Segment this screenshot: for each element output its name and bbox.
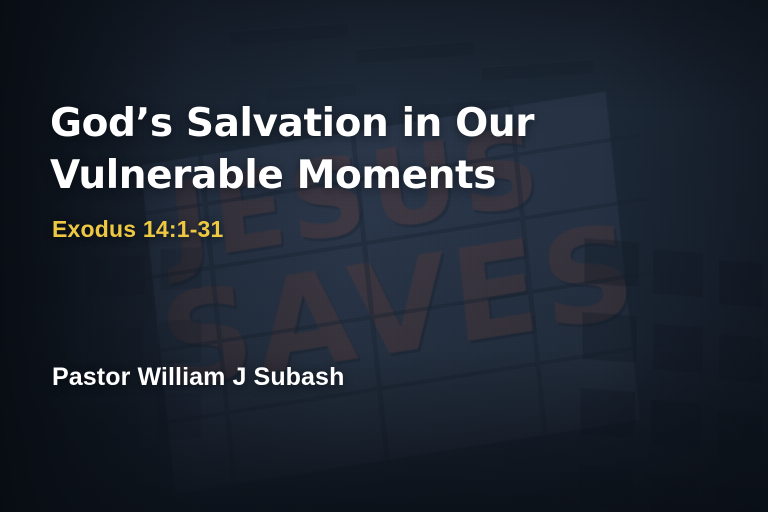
sermon-title: God’s Salvation in Our Vulnerable Moment… xyxy=(50,98,610,202)
sermon-title-line-1: God’s Salvation in Our xyxy=(50,98,610,150)
speaker-name: Pastor William J Subash xyxy=(52,363,344,392)
slide-content: God’s Salvation in Our Vulnerable Moment… xyxy=(50,0,610,512)
sermon-title-line-2: Vulnerable Moments xyxy=(50,150,610,202)
scripture-reference: Exodus 14:1-31 xyxy=(52,216,224,243)
sermon-title-slide: JESUS SAVES xyxy=(0,0,768,512)
